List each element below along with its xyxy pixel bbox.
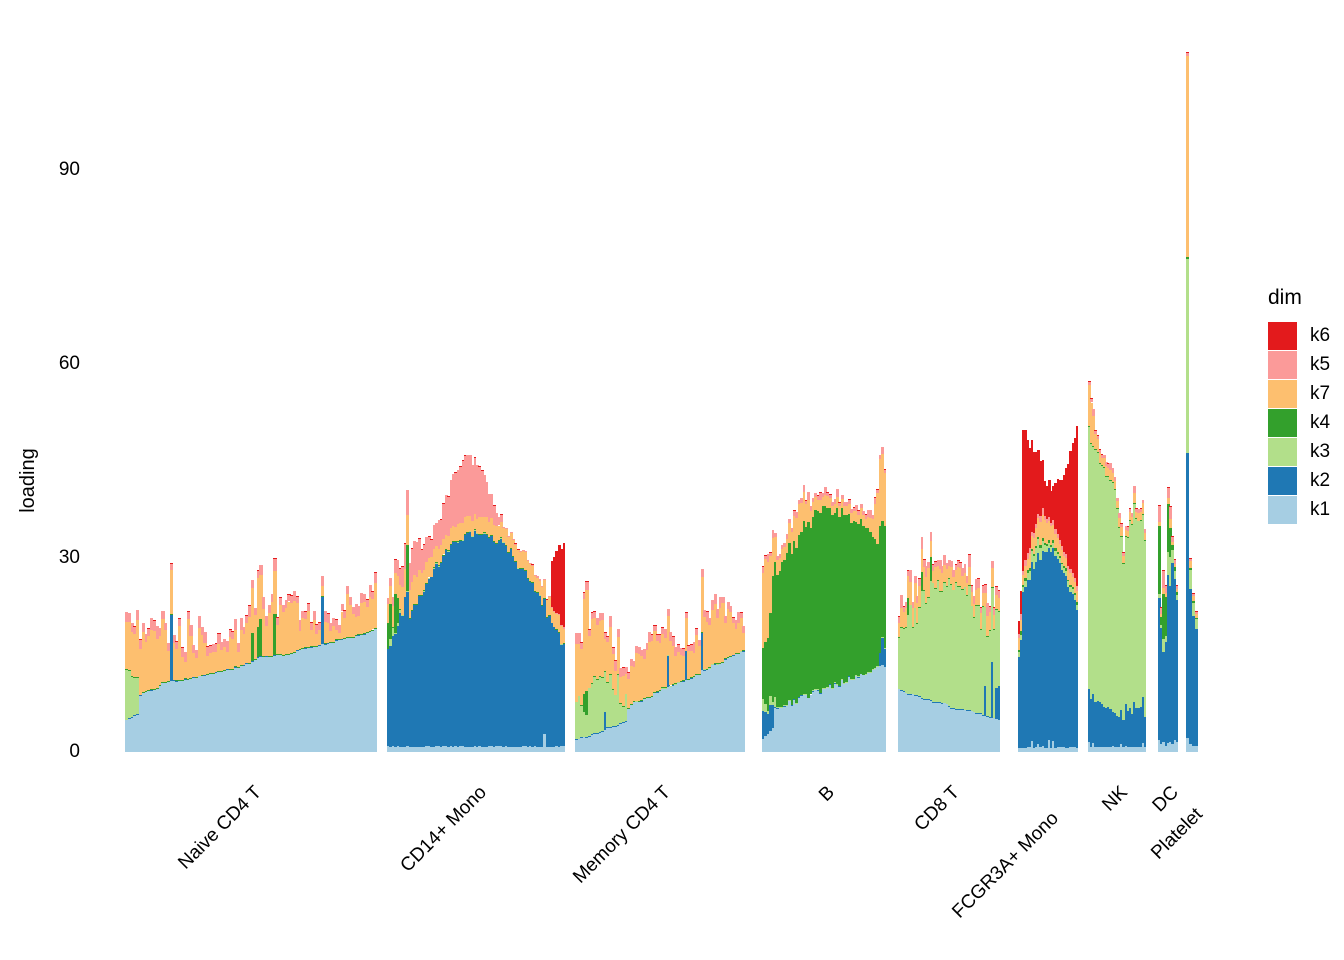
bar-segment-k5 [1169,506,1172,519]
bar-segment-k5 [251,580,254,588]
chart-root: loading 0306090 Naive CD4 TCD14+ MonoMem… [0,0,1344,960]
bar-segment-k4 [1116,508,1119,509]
x-axis-label-cd14-mono: CD14+ Mono [396,782,491,877]
bar-segment-k1 [884,667,887,752]
bar-segment-k5 [701,569,704,577]
bar-segment-k3 [1174,571,1177,579]
legend-item-k4[interactable]: k4 [1268,409,1344,437]
bar-segment-k4 [1114,489,1117,490]
stacked-bar [374,572,377,752]
bar-segment-k5 [543,579,546,580]
bar-segment-k5 [1116,498,1119,502]
bar-segment-k5 [262,597,265,609]
bar-segment-k5 [998,590,1001,598]
bar-segment-k4 [1195,618,1198,620]
legend-label: k7 [1310,383,1330,405]
bar-segment-k5 [585,581,588,589]
bar-segment-k5 [1097,436,1100,440]
bar-segment-k3 [1076,605,1079,610]
bar-segment-k5 [1099,449,1102,453]
bar-segment-k5 [170,563,173,571]
bar-segment-k5 [909,570,912,582]
bar-segment-k3 [1144,541,1147,717]
bar-segment-k4 [1192,601,1195,603]
bar-segment-k5 [524,551,527,552]
bar-segment-k2 [1195,629,1198,745]
bar-segment-k5 [527,560,530,561]
bar-segment-k5 [841,495,844,499]
bar-segment-k5 [1174,559,1177,564]
bar-segment-k7 [977,588,980,604]
legend-label: k1 [1310,499,1330,521]
stacked-bar [884,469,887,752]
bar-segment-k7 [1189,561,1192,567]
bar-segment-k7 [1133,493,1136,503]
bar-segment-k5 [1092,409,1095,416]
bar-segment-k7 [1192,596,1195,601]
legend-swatch-k1 [1268,496,1297,524]
bar-segment-k5 [774,533,777,537]
bar-segment-k7 [968,567,971,586]
bar-segment-k6 [563,543,566,627]
bar-segment-k6 [1076,426,1079,586]
bar-segment-k5 [505,528,508,529]
bar-segment-k5 [695,629,698,635]
stacked-bar [742,626,745,752]
bar-segment-k7 [406,515,409,545]
legend-swatch-k5 [1268,351,1297,379]
bar-segment-k5 [1114,477,1117,481]
bar-segment-k7 [1176,589,1179,592]
bar-segment-k7 [1114,481,1117,489]
bar-segment-k3 [1195,619,1198,629]
bar-segment-k1 [563,746,566,752]
bar-segment-k5 [514,543,517,544]
legend-swatch-k7 [1268,380,1297,408]
bar-segment-k5 [512,539,515,540]
bar-segment-k5 [531,564,534,565]
bar-segment-k3 [1176,595,1179,600]
bar-segment-k5 [836,489,839,497]
legend-item-k5[interactable]: k5 [1268,351,1344,379]
bar-segment-k5 [788,519,791,523]
bar-segment-k7 [170,570,173,614]
bar-segment-k5 [536,576,539,577]
bar-segment-k1 [742,651,745,752]
bar-segment-k1 [1076,748,1079,752]
bar-segment-k7 [321,586,324,597]
legend-swatch-k6 [1268,322,1297,350]
bar-segment-k5 [374,572,377,582]
bar-segment-k7 [742,633,745,651]
bar-segment-k5 [729,606,732,612]
x-axis-labels: Naive CD4 TCD14+ MonoMemory CD4 TBCD8 TF… [0,770,1250,960]
x-axis-label-dc: DC [1149,782,1184,817]
bar-segment-k5 [964,564,967,573]
bar-segment-k5 [1144,529,1147,533]
bar-segment-k5 [178,618,181,626]
bar-segment-k3 [1186,259,1189,453]
bar-segment-k4 [1171,545,1174,550]
bar-segment-k5 [1129,508,1132,512]
bar-segment-k5 [296,596,299,604]
bar-segment-k4 [1174,567,1177,571]
bar-segment-k2 [1176,600,1179,742]
legend-label: k6 [1310,325,1330,347]
bar-segment-k2 [1076,610,1079,748]
bar-segment-k5 [740,612,743,618]
bar-segment-k7 [563,629,566,643]
bar-segment-k5 [1176,585,1179,589]
x-axis-label-cd8-t: CD8 T [910,782,964,836]
legend-label: k4 [1310,412,1330,434]
bar-segment-k5 [313,611,316,620]
legend-items: k6k5k7k4k3k2k1 [1268,322,1344,524]
bar-segment-k4 [1186,257,1189,260]
stacked-bar [1076,426,1079,752]
bar-segment-k1 [1144,747,1147,752]
bar-segment-k4 [1158,526,1161,594]
bar-segment-k5 [968,554,971,567]
bar-segment-k5 [1088,381,1091,385]
bar-segment-k7 [998,598,1001,611]
bar-segment-k5 [685,612,688,618]
bar-segment-k5 [189,625,192,636]
legend-item-k1[interactable]: k1 [1268,496,1344,524]
bar-segment-k7 [884,473,887,526]
bar-segment-k2 [1144,717,1147,748]
bar-segment-k5 [389,578,392,585]
bar-segment-k7 [1174,564,1177,567]
bar-segment-k5 [914,576,917,582]
legend-item-k7[interactable]: k7 [1268,380,1344,408]
legend-swatch-k4 [1268,409,1297,437]
x-axis-label-nk: NK [1098,782,1132,816]
stacked-bar [1176,585,1179,752]
bar-segment-k5 [881,447,884,454]
x-axis-label-platelet: Platelet [1147,804,1207,864]
bar-segment-k5 [539,579,542,580]
bar-segment-k5 [259,565,262,576]
bar-segment-k5 [1118,513,1121,519]
bar-segment-k4 [1076,602,1079,605]
bar-segment-k7 [1167,498,1170,504]
bar-segment-k5 [1103,455,1106,459]
legend-label: k2 [1310,470,1330,492]
bar-segment-k5 [1076,586,1079,591]
bar-segment-k7 [1076,591,1079,602]
bar-segment-k5 [984,585,987,593]
bar-segment-k7 [543,580,546,597]
bar-segment-k5 [164,623,167,631]
bar-segment-k5 [950,561,953,567]
bar-segment-k5 [921,537,924,549]
bar-segment-k5 [349,597,352,605]
x-axis-label-memory-cd4-t: Memory CD4 T [569,782,675,888]
legend-label: k3 [1310,441,1330,463]
bar-segment-k3 [998,612,1001,686]
bar-segment-k3 [1189,570,1192,589]
bar-segment-k7 [1158,522,1161,526]
bar-segment-k7 [1120,527,1123,536]
bar-segment-k1 [1176,742,1179,752]
bar-segment-k2 [563,644,566,746]
bar-segment-k5 [563,627,566,628]
bar-segment-k5 [1195,611,1198,614]
bar-segment-k5 [714,594,717,604]
bar-segment-k5 [1133,486,1136,494]
bar-segment-k5 [848,499,851,504]
bar-segment-k5 [1094,430,1097,434]
bar-segment-k4 [1144,540,1147,541]
bar-segment-k2 [884,648,887,667]
stacked-bar [563,543,566,752]
bar-segment-k7 [1116,501,1119,508]
bar-segment-k5 [860,504,863,508]
legend-swatch-k3 [1268,438,1297,466]
bar-segment-k5 [672,636,675,646]
bar-segment-k5 [829,494,832,498]
legend-title: dim [1268,286,1344,310]
bar-segment-k3 [1158,594,1161,598]
bar-segment-k7 [1144,533,1147,540]
bar-segment-k5 [803,485,806,493]
bar-segment-k5 [1186,52,1189,56]
bar-segment-k7 [930,541,933,557]
bar-segment-k5 [653,625,656,631]
bar-segment-k5 [203,632,206,643]
bar-segment-k7 [374,583,377,628]
bar-segment-k5 [136,610,139,620]
bar-segment-k1 [998,720,1001,752]
bar-segment-k5 [991,561,994,567]
bar-segment-k5 [510,532,513,533]
legend-item-k2[interactable]: k2 [1268,467,1344,495]
bar-segment-k5 [187,611,190,619]
bar-segment-k5 [327,613,330,623]
bar-segment-k4 [1142,514,1145,515]
bar-segment-k5 [1171,537,1174,542]
bar-segment-k4 [1189,568,1192,570]
bar-segment-k7 [991,568,994,587]
bar-segment-k7 [1171,542,1174,545]
bar-segment-k5 [721,597,724,603]
bar-segment-k5 [609,616,612,627]
bar-segment-k4 [1176,592,1179,595]
legend-item-k6[interactable]: k6 [1268,322,1344,350]
x-axis-label-fcgr3a-mono: FCGR3A+ Mono [948,808,1063,923]
bar-segment-k4 [884,526,887,648]
legend-label: k5 [1310,354,1330,376]
bar-segment-k5 [128,613,131,622]
bar-segment-k5 [1120,523,1123,527]
bar-segment-k5 [1090,398,1093,402]
bar-segment-k7 [1142,503,1145,514]
bar-segment-k5 [142,623,145,632]
bar-segment-k5 [161,611,164,619]
stacked-bar [998,590,1001,752]
x-axis-label-naive-cd4-t: Naive CD4 T [174,782,266,874]
bar-segment-k5 [884,469,887,473]
x-axis-label-b: B [815,782,840,807]
bar-segment-k7 [1186,56,1189,256]
legend-item-k3[interactable]: k3 [1268,438,1344,466]
bar-segment-k5 [273,558,276,570]
legend-swatch-k2 [1268,467,1297,495]
bar-segment-k5 [307,603,310,611]
bar-segment-k5 [346,586,349,594]
stacked-bar [1144,529,1147,752]
bar-segment-k5 [1189,558,1192,561]
bar-segment-k5 [1192,594,1195,597]
bar-segment-k2 [998,686,1001,720]
bar-segment-k5 [1158,506,1161,523]
bar-segment-k5 [612,647,615,653]
bar-segment-k5 [234,619,237,629]
bar-segment-k5 [667,609,670,616]
bar-segment-k5 [1167,488,1170,498]
legend: dim k6k5k7k4k3k2k1 [1268,286,1344,525]
bar-segment-k1 [374,628,377,752]
bar-segment-k7 [1195,614,1198,618]
bar-segment-k4 [1120,536,1123,537]
bar-segment-k5 [406,490,409,515]
bar-segment-k1 [1195,746,1198,752]
bar-segment-k5 [601,613,604,619]
bar-segment-k5 [500,514,503,522]
bar-segment-k5 [807,492,810,500]
bar-segment-k5 [1142,500,1145,504]
stacked-bar [1195,611,1198,752]
bar-segment-k7 [1169,519,1172,528]
bar-segment-k5 [617,629,620,637]
bar-segment-k5 [742,626,745,633]
bar-segment-k5 [977,578,980,589]
bar-segment-k5 [930,532,933,541]
bar-segment-k5 [1112,468,1115,474]
bar-segment-k5 [321,576,324,586]
bar-segment-k5 [971,585,974,591]
bar-segment-k7 [273,571,276,614]
